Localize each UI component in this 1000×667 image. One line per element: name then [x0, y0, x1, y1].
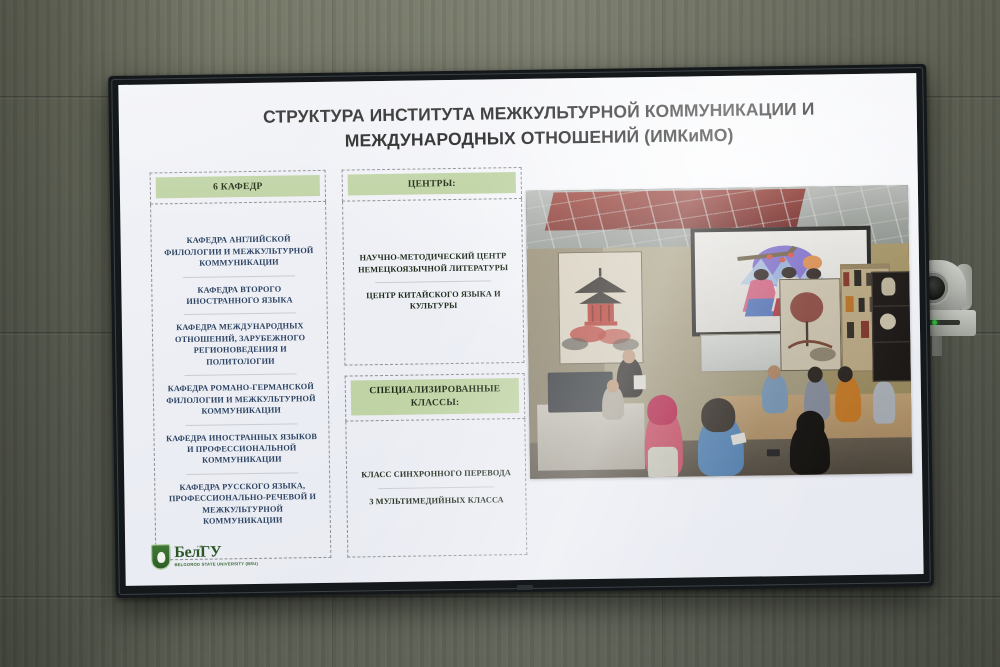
classroom-photo [526, 185, 912, 479]
logo-wordmark: БелГУ [174, 544, 258, 561]
camera-mount-post [932, 336, 942, 356]
list-item: КАФЕДРА РУССКОГО ЯЗЫКА, ПРОФЕССИОНАЛЬНО-… [164, 477, 321, 531]
photo-person-edge [873, 381, 896, 423]
photo-pagoda-artwork [557, 251, 643, 364]
photo-person-hair [701, 398, 736, 433]
logo-prefix: НИУ [197, 546, 205, 550]
departments-header-label: 6 КАФЕДР [156, 175, 320, 198]
photo-person-hair [807, 367, 822, 383]
list-item: КАФЕДРА ВТОРОГО ИНОСТРАННОГО ЯЗЫКА [161, 280, 317, 311]
divider [184, 374, 296, 377]
slide-title: СТРУКТУРА ИНСТИТУТА МЕЖКУЛЬТУРНОЙ КОММУН… [189, 96, 890, 157]
presentation-slide: СТРУКТУРА ИНСТИТУТА МЕЖКУЛЬТУРНОЙ КОММУН… [118, 73, 923, 586]
centers-group: ЦЕНТРЫ: НАУЧНО-МЕТОДИЧЕСКИЙ ЦЕНТР НЕМЕЦК… [342, 167, 525, 366]
photo-phone [767, 449, 780, 456]
classes-header-box: СПЕЦИАЛИЗИРОВАННЫЕ КЛАССЫ: [345, 373, 526, 421]
list-item: ЦЕНТР КИТАЙСКОГО ЯЗЫКА И КУЛЬТУРЫ [353, 285, 513, 316]
divider [186, 472, 298, 475]
departments-column: 6 КАФЕДР КАФЕДРА АНГЛИЙСКОЙ ФИЛОЛОГИИ И … [150, 170, 332, 561]
photo-person-hair [797, 411, 825, 439]
centers-list: НАУЧНО-МЕТОДИЧЕСКИЙ ЦЕНТР НЕМЕЦКОЯЗЫЧНОЙ… [342, 199, 524, 366]
belgu-logo: НИУ БелГУ BELGOROD STATE UNIVERSITY (BSU… [151, 543, 258, 570]
centers-header-label: ЦЕНТРЫ: [348, 172, 516, 195]
divider [184, 313, 296, 316]
photo-desk [537, 403, 645, 471]
classes-header-label: СПЕЦИАЛИЗИРОВАННЫЕ КЛАССЫ: [351, 378, 519, 415]
departments-list: КАФЕДРА АНГЛИЙСКОЙ ФИЛОЛОГИИ И МЕЖКУЛЬТУ… [150, 202, 331, 561]
list-item: КЛАСС СИНХРОННОГО ПЕРЕВОДА [356, 465, 516, 485]
list-item: КАФЕДРА РОМАНО-ГЕРМАНСКОЙ ФИЛОЛОГИИ И МЕ… [163, 378, 320, 421]
photo-tree-artwork [779, 278, 841, 371]
photo-presenter-head [622, 349, 635, 363]
structure-diagram: 6 КАФЕДР КАФЕДРА АНГЛИЙСКОЙ ФИЛОЛОГИИ И … [150, 167, 528, 560]
camera-status-led [932, 320, 937, 325]
divider [183, 275, 295, 278]
photo-presenter-paper [634, 375, 646, 389]
photo-dark-cabinet [871, 271, 912, 382]
display-power-indicator [517, 585, 533, 590]
classes-list: КЛАСС СИНХРОННОГО ПЕРЕВОДА 3 МУЛЬТИМЕДИЙ… [345, 419, 527, 558]
shield-icon [151, 544, 170, 569]
divider [379, 486, 494, 489]
divider [376, 280, 491, 283]
photo-person-hair [647, 395, 677, 425]
centers-classes-column: ЦЕНТРЫ: НАУЧНО-МЕТОДИЧЕСКИЙ ЦЕНТР НЕМЕЦК… [342, 167, 528, 558]
list-item: НАУЧНО-МЕТОДИЧЕСКИЙ ЦЕНТР НЕМЕЦКОЯЗЫЧНОЙ… [353, 247, 513, 278]
logo-subtitle: BELGOROD STATE UNIVERSITY (BSU) [174, 562, 258, 567]
list-item: КАФЕДРА ИНОСТРАННЫХ ЯЗЫКОВ И ПРОФЕССИОНА… [163, 428, 320, 471]
photo-chair [648, 447, 678, 477]
divider [185, 423, 297, 426]
list-item: 3 МУЛЬТИМЕДИЙНЫХ КЛАССА [356, 491, 516, 511]
list-item: КАФЕДРА АНГЛИЙСКОЙ ФИЛОЛОГИИ И МЕЖКУЛЬТУ… [161, 230, 318, 273]
wall-display[interactable]: СТРУКТУРА ИНСТИТУТА МЕЖКУЛЬТУРНОЙ КОММУН… [108, 64, 934, 598]
logo-text: НИУ БелГУ BELGOROD STATE UNIVERSITY (BSU… [174, 544, 258, 567]
list-item: КАФЕДРА МЕЖДУНАРОДНЫХ ОТНОШЕНИЙ, ЗАРУБЕЖ… [162, 317, 319, 371]
photo-person-back-right [834, 376, 861, 422]
classes-group: СПЕЦИАЛИЗИРОВАННЫЕ КЛАССЫ: КЛАСС СИНХРОН… [345, 373, 528, 558]
departments-header-box: 6 КАФЕДР [150, 170, 326, 205]
centers-header-box: ЦЕНТРЫ: [342, 167, 522, 202]
photo-person-head [767, 365, 780, 379]
